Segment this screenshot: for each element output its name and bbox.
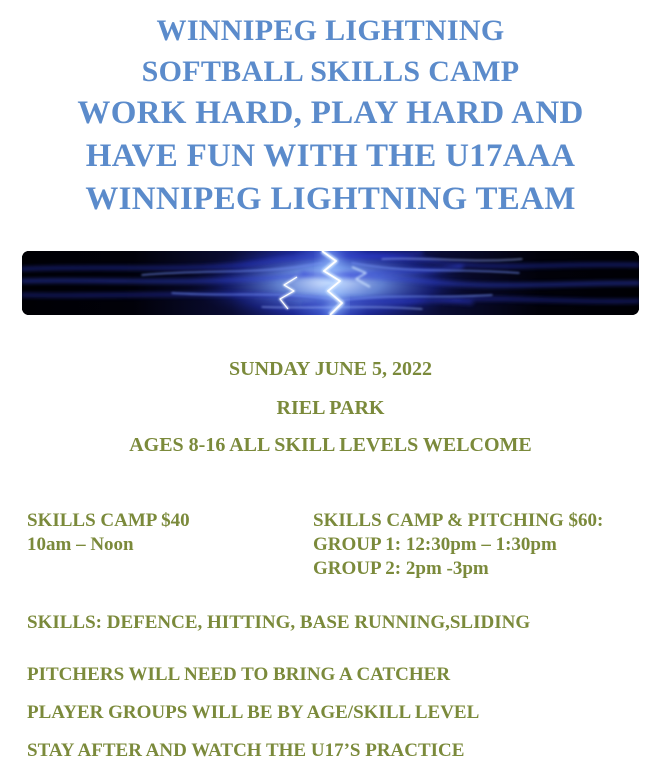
title-line-5: WINNIPEG LIGHTNING TEAM: [0, 178, 661, 221]
flyer-page: WINNIPEG LIGHTNING SOFTBALL SKILLS CAMP …: [0, 0, 661, 775]
lightning-bolt-icon: [22, 251, 639, 315]
lightning-banner-image: [22, 251, 639, 315]
event-date: SUNDAY JUNE 5, 2022: [0, 358, 661, 381]
event-ages: AGES 8-16 ALL SKILL LEVELS WELCOME: [0, 434, 661, 457]
pricing-column-right: SKILLS CAMP & PITCHING $60: GROUP 1: 12:…: [313, 509, 603, 581]
pitching-group-1-time: GROUP 1: 12:30pm – 1:30pm: [313, 533, 603, 557]
note-skills-list: SKILLS: DEFENCE, HITTING, BASE RUNNING,S…: [27, 612, 530, 634]
note-stay-for-practice: STAY AFTER AND WATCH THE U17’S PRACTICE: [27, 740, 464, 762]
note-pitchers-catcher: PITCHERS WILL NEED TO BRING A CATCHER: [27, 664, 450, 686]
note-player-groups: PLAYER GROUPS WILL BE BY AGE/SKILL LEVEL: [27, 702, 479, 724]
title-line-1: WINNIPEG LIGHTNING: [0, 10, 661, 51]
flyer-title-block: WINNIPEG LIGHTNING SOFTBALL SKILLS CAMP …: [0, 10, 661, 221]
title-line-2: SOFTBALL SKILLS CAMP: [0, 51, 661, 92]
title-line-4: HAVE FUN WITH THE U17AAA: [0, 135, 661, 178]
event-location: RIEL PARK: [0, 397, 661, 420]
pricing-column-left: SKILLS CAMP $40 10am – Noon: [27, 509, 190, 557]
skills-pitching-price-heading: SKILLS CAMP & PITCHING $60:: [313, 509, 603, 533]
skills-camp-time: 10am – Noon: [27, 533, 190, 557]
skills-camp-price-heading: SKILLS CAMP $40: [27, 509, 190, 533]
title-line-3: WORK HARD, PLAY HARD AND: [0, 92, 661, 135]
pitching-group-2-time: GROUP 2: 2pm -3pm: [313, 557, 603, 581]
